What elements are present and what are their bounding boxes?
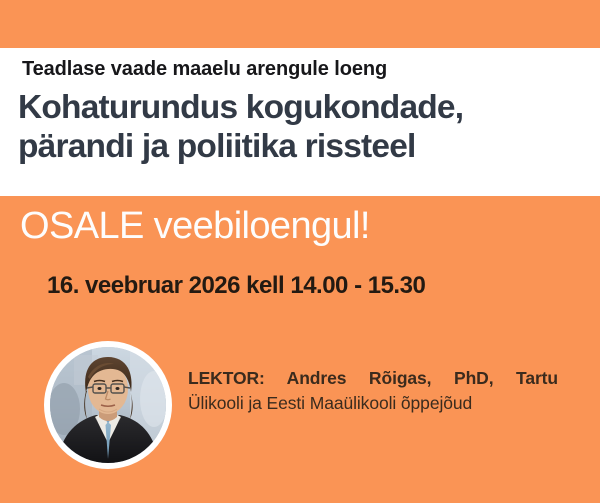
- lecturer-info: LEKTOR: Andres Rõigas, PhD, Tartu Ülikoo…: [188, 366, 558, 416]
- event-poster: Teadlase vaade maaelu arengule loeng Koh…: [0, 0, 600, 503]
- page-title: Kohaturundus kogukondade, pärandi ja pol…: [18, 88, 588, 166]
- event-datetime: 16. veebruar 2026 kell 14.00 - 15.30: [47, 272, 425, 300]
- page-title-line-2: pärandi ja poliitika rissteel: [18, 127, 588, 166]
- poster-kicker: Teadlase vaade maaelu arengule loeng: [22, 58, 387, 81]
- person-photo-icon: [50, 347, 166, 463]
- cta-heading: OSALE veebiloengul!: [20, 205, 370, 248]
- lecturer-name-line: LEKTOR: Andres Rõigas, PhD, Tartu: [188, 366, 558, 391]
- avatar: [44, 341, 172, 469]
- headline-panel: Teadlase vaade maaelu arengule loeng Koh…: [0, 48, 600, 196]
- lecturer-affiliation-line: Ülikooli ja Eesti Maaülikooli õppejõud: [188, 391, 558, 416]
- page-title-line-1: Kohaturundus kogukondade,: [18, 89, 463, 126]
